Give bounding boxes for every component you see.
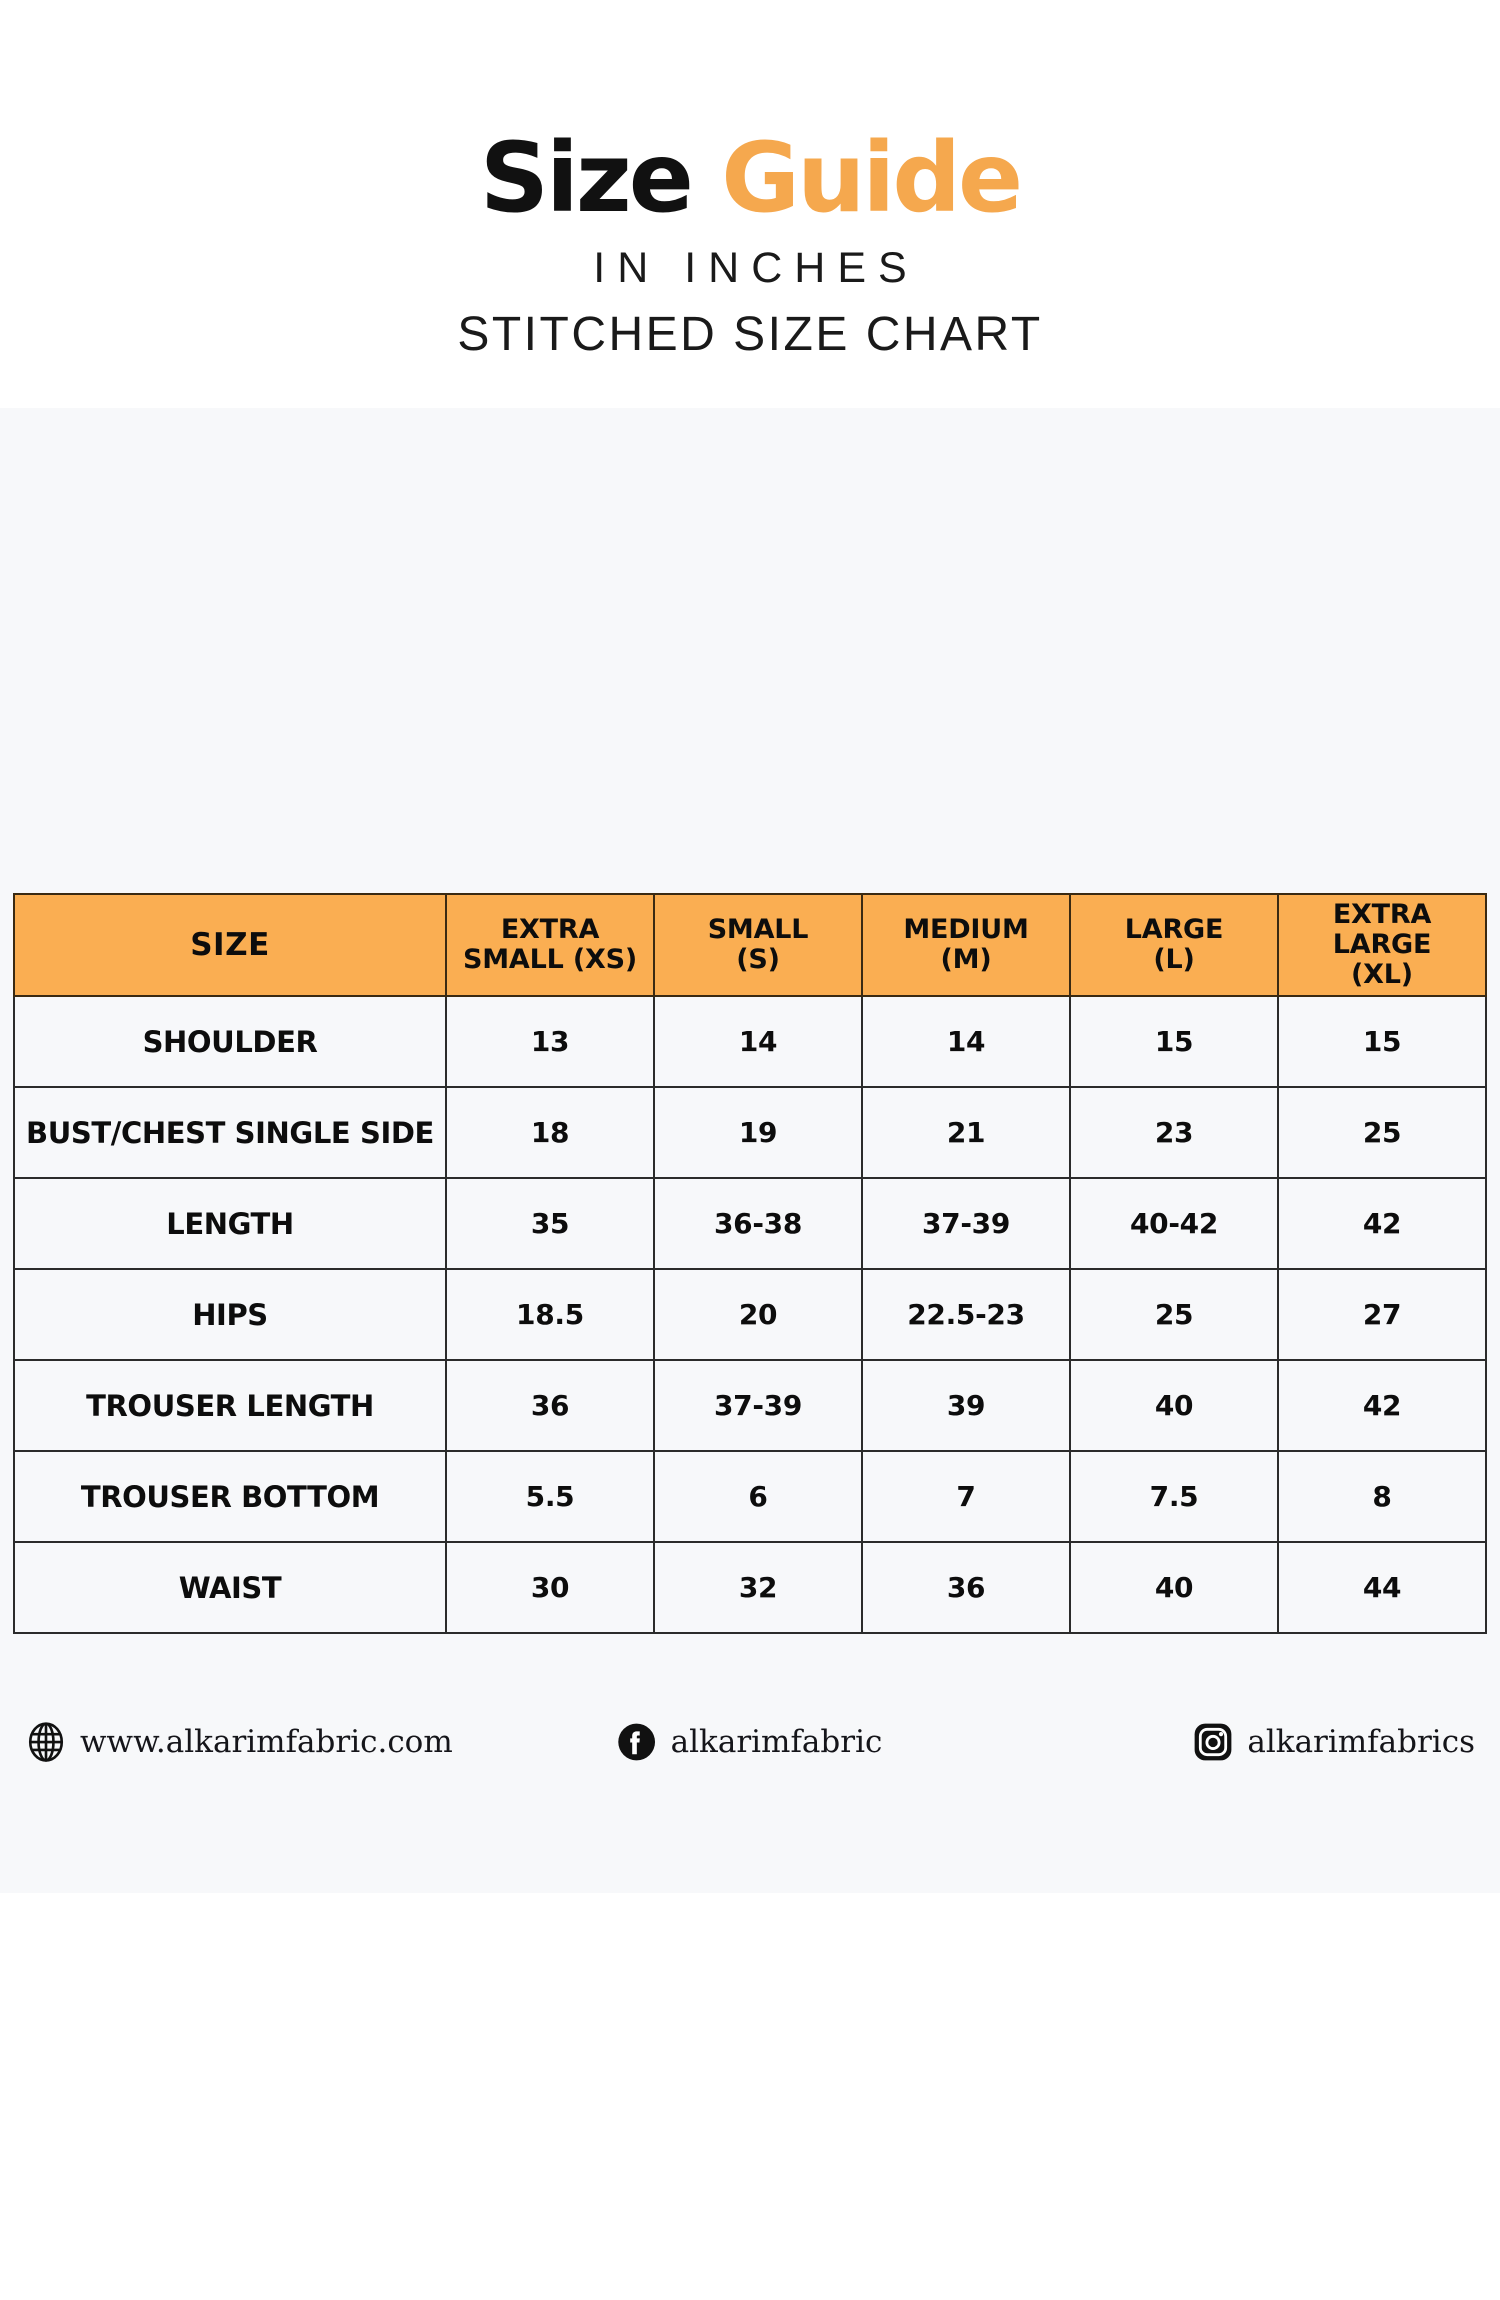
cell-value: 18 — [446, 1087, 654, 1178]
cell-value: 35 — [446, 1178, 654, 1269]
cell-value: 15 — [1278, 996, 1486, 1087]
cell-value: 6 — [654, 1451, 862, 1542]
column-header-s: SMALL (S) — [654, 894, 862, 996]
table-row: HIPS 18.5 20 22.5-23 25 27 — [14, 1269, 1486, 1360]
column-header-xl: EXTRA LARGE (XL) — [1278, 894, 1486, 996]
size-chart-table: SIZE EXTRA SMALL (XS) SMALL (S) MEDIUM (… — [13, 893, 1487, 1634]
column-header-l-line1: LARGE — [1125, 914, 1224, 945]
footer-facebook[interactable]: alkarimfabric — [616, 1721, 883, 1763]
row-label: TROUSER BOTTOM — [14, 1451, 446, 1542]
instagram-icon — [1192, 1721, 1234, 1763]
cell-value: 23 — [1070, 1087, 1278, 1178]
row-label: TROUSER LENGTH — [14, 1360, 446, 1451]
cell-value: 42 — [1278, 1178, 1486, 1269]
row-label: BUST/CHEST SINGLE SIDE — [14, 1087, 446, 1178]
column-header-m-line1: MEDIUM — [903, 914, 1028, 945]
footer-instagram-text: alkarimfabrics — [1247, 1724, 1475, 1760]
cell-value: 5.5 — [446, 1451, 654, 1542]
footer-instagram[interactable]: alkarimfabrics — [1192, 1721, 1475, 1763]
facebook-icon — [616, 1721, 658, 1763]
cell-value: 15 — [1070, 996, 1278, 1087]
table-row: WAIST 30 32 36 40 44 — [14, 1542, 1486, 1633]
cell-value: 7.5 — [1070, 1451, 1278, 1542]
footer-facebook-text: alkarimfabric — [671, 1724, 883, 1760]
row-label: HIPS — [14, 1269, 446, 1360]
column-header-l-line2: (L) — [1153, 944, 1194, 975]
cell-value: 13 — [446, 996, 654, 1087]
cell-value: 8 — [1278, 1451, 1486, 1542]
cell-value: 37-39 — [654, 1360, 862, 1451]
cell-value: 40 — [1070, 1542, 1278, 1633]
column-header-m-line2: (M) — [941, 944, 992, 975]
globe-icon — [25, 1721, 67, 1763]
row-label: LENGTH — [14, 1178, 446, 1269]
page-title: Size Guide — [0, 130, 1500, 228]
column-header-m: MEDIUM (M) — [862, 894, 1070, 996]
cell-value: 14 — [654, 996, 862, 1087]
cell-value: 27 — [1278, 1269, 1486, 1360]
cell-value: 40-42 — [1070, 1178, 1278, 1269]
cell-value: 39 — [862, 1360, 1070, 1451]
subtitle-units: IN INCHES — [0, 244, 1500, 293]
row-label: SHOULDER — [14, 996, 446, 1087]
cell-value: 36-38 — [654, 1178, 862, 1269]
column-header-xl-line2: (XL) — [1351, 959, 1413, 990]
subtitle-chart-type: STITCHED SIZE CHART — [0, 307, 1500, 362]
cell-value: 21 — [862, 1087, 1070, 1178]
cell-value: 37-39 — [862, 1178, 1070, 1269]
column-header-l: LARGE (L) — [1070, 894, 1278, 996]
cell-value: 25 — [1070, 1269, 1278, 1360]
cell-value: 20 — [654, 1269, 862, 1360]
column-header-xs: EXTRA SMALL (XS) — [446, 894, 654, 996]
cell-value: 7 — [862, 1451, 1070, 1542]
footer-website[interactable]: www.alkarimfabric.com — [25, 1721, 453, 1763]
table-row: TROUSER BOTTOM 5.5 6 7 7.5 8 — [14, 1451, 1486, 1542]
cell-value: 19 — [654, 1087, 862, 1178]
table-row: TROUSER LENGTH 36 37-39 39 40 42 — [14, 1360, 1486, 1451]
cell-value: 42 — [1278, 1360, 1486, 1451]
column-header-xl-line1: EXTRA LARGE — [1333, 899, 1432, 960]
cell-value: 32 — [654, 1542, 862, 1633]
cell-value: 36 — [446, 1360, 654, 1451]
column-header-s-line2: (S) — [736, 944, 780, 975]
cell-value: 36 — [862, 1542, 1070, 1633]
column-header-xs-line2: SMALL (XS) — [463, 944, 637, 975]
column-header-s-line1: SMALL — [708, 914, 809, 945]
cell-value: 40 — [1070, 1360, 1278, 1451]
page-title-part-2: Guide — [721, 122, 1020, 234]
row-label: WAIST — [14, 1542, 446, 1633]
table-row: SHOULDER 13 14 14 15 15 — [14, 996, 1486, 1087]
column-header-xs-line1: EXTRA — [501, 914, 599, 945]
cell-value: 25 — [1278, 1087, 1486, 1178]
cell-value: 30 — [446, 1542, 654, 1633]
footer-website-text: www.alkarimfabric.com — [80, 1724, 453, 1760]
page-title-part-1: Size — [480, 122, 691, 234]
table-header-row: SIZE EXTRA SMALL (XS) SMALL (S) MEDIUM (… — [14, 894, 1486, 996]
column-header-size: SIZE — [14, 894, 446, 996]
size-guide-page: Size Guide IN INCHES STITCHED SIZE CHART… — [0, 0, 1500, 2300]
cell-value: 18.5 — [446, 1269, 654, 1360]
footer: www.alkarimfabric.com alkarimfabric alka… — [13, 1702, 1485, 1782]
cell-value: 14 — [862, 996, 1070, 1087]
table-row: LENGTH 35 36-38 37-39 40-42 42 — [14, 1178, 1486, 1269]
table-row: BUST/CHEST SINGLE SIDE 18 19 21 23 25 — [14, 1087, 1486, 1178]
cell-value: 22.5-23 — [862, 1269, 1070, 1360]
title-block: Size Guide IN INCHES STITCHED SIZE CHART — [0, 130, 1500, 362]
cell-value: 44 — [1278, 1542, 1486, 1633]
